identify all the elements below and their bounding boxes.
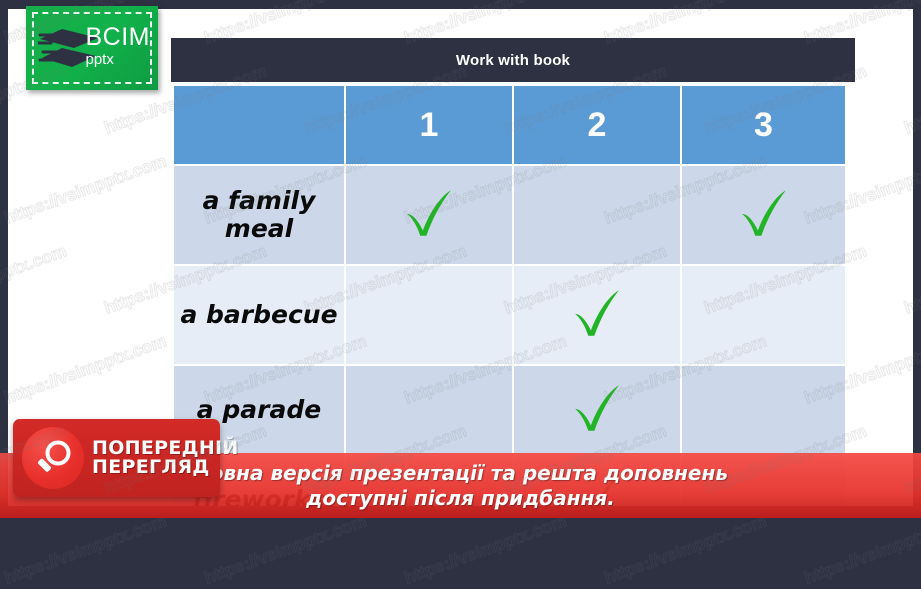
work-with-book-table: 1 2 3 a family meal [172,84,847,506]
logo-wordmark: BCIM pptx [86,25,151,67]
table-row: a barbecue [173,265,846,365]
slide-title-bar: Work with book [171,38,855,82]
cell-r2c1[interactable] [345,265,513,365]
cell-r3c2[interactable] [513,365,681,455]
cell-r1c3[interactable] [681,165,846,265]
bcim-logo[interactable]: BCIM pptx [26,6,158,90]
column-header-1: 1 [345,85,513,165]
table-row: a parade [173,365,846,455]
preview-badge-line2: ПЕРЕГЛЯД [92,458,239,477]
table-corner-cell [173,85,345,165]
column-header-3: 3 [681,85,846,165]
watermark-text: https://vsimpptx.com [202,511,369,588]
watermark-text: https://vsimpptx.com [802,511,921,588]
page-title: Work with book [456,52,570,69]
window-frame: Work with book 1 2 3 a family meal [0,0,921,518]
preview-badge-text: ПОПЕРЕДНІЙ ПЕРЕГЛЯД [92,439,239,478]
magnifier-icon [22,427,84,489]
row-label: a family meal [173,165,345,265]
cell-r1c2[interactable] [513,165,681,265]
logo-sub: pptx [86,52,151,67]
table-header: 1 2 3 [173,85,846,165]
logo-brand: BCIM [86,25,151,50]
cell-r3c3[interactable] [681,365,846,455]
banner-line-2: доступні після придбання. [306,486,615,510]
row-label: a barbecue [173,265,345,365]
cell-r2c3[interactable] [681,265,846,365]
table-header-row: 1 2 3 [173,85,846,165]
checkmark-icon [736,185,792,241]
preview-badge[interactable]: ПОПЕРЕДНІЙ ПЕРЕГЛЯД [13,419,220,497]
watermark-text: https://vsimpptx.com [602,511,769,588]
cell-r1c1[interactable] [345,165,513,265]
checkmark-icon [401,185,457,241]
watermark-text: https://vsimpptx.com [2,511,169,588]
checkmark-icon [569,285,625,341]
watermark-text: https://vsimpptx.com [402,511,569,588]
cell-r2c2[interactable] [513,265,681,365]
table-row: a family meal [173,165,846,265]
column-header-2: 2 [513,85,681,165]
checkmark-icon [569,380,625,436]
banner-line-1: Повна версія презентації та решта доповн… [193,461,728,485]
cell-r3c1[interactable] [345,365,513,455]
